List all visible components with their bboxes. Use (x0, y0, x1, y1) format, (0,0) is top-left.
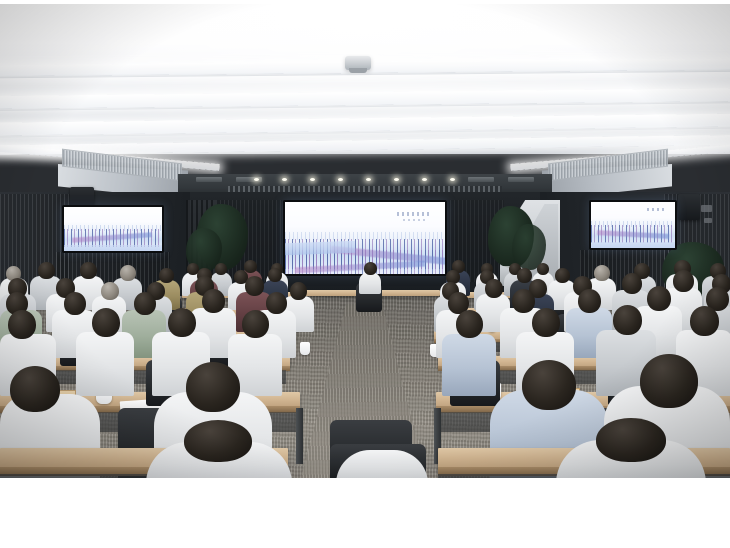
attendee-e2-head (92, 308, 120, 337)
bulkhead-vent-3 (468, 177, 494, 182)
attendee-f1-head (186, 362, 240, 412)
bulkhead-downlight-1 (282, 178, 287, 181)
attendee-d3-head (202, 289, 225, 313)
desk-leg-e-left (296, 408, 303, 464)
attendee-e2-torso (76, 332, 134, 396)
attendee-b8-head (555, 268, 570, 283)
attendee-b1-head (159, 268, 174, 283)
main-screen-river (285, 241, 355, 255)
bulkhead-downlight-2 (310, 178, 315, 181)
main-screen-watermark (397, 212, 431, 216)
screenshot-root: 姓 名 姓 名 (0, 0, 730, 548)
attendee-b0-head (120, 265, 136, 281)
attendee-b9-head (594, 265, 610, 281)
attendee-f3-head (522, 360, 576, 410)
tea-mug-d3 (300, 342, 310, 355)
bulkhead-vent-4 (508, 177, 534, 182)
front-desk-right (378, 290, 440, 296)
ceiling-projector-lens (349, 68, 367, 73)
bulkhead-downlight-4 (366, 178, 371, 181)
attendee-e7-head (613, 305, 642, 335)
attendee-f2-head (10, 366, 60, 412)
attendee-e3-head (168, 308, 196, 337)
attendee-e5-torso (442, 334, 496, 396)
attendee-g2-head (596, 418, 666, 462)
solo-attendee-head (364, 262, 377, 275)
bulkhead-downlight-5 (394, 178, 399, 181)
attendee-d8-head (647, 286, 671, 311)
wall-speaker-right (678, 194, 700, 220)
right-side-screen (591, 202, 675, 248)
attendee-d6-head (512, 289, 535, 313)
attendee-c4-head (245, 276, 264, 296)
right-screen-river (591, 242, 675, 248)
attendee-b4-head (268, 268, 282, 282)
attendee-f4-head (640, 354, 698, 408)
left-side-screen (64, 207, 162, 251)
attendee-a8-head (537, 263, 549, 275)
front-desk-left (298, 290, 360, 296)
bulkhead-downlight-7 (450, 178, 455, 181)
attendee-d2-head (134, 292, 156, 315)
attendee-g1-head (184, 420, 252, 462)
bulkhead-downlight-8 (254, 178, 259, 181)
attendee-d4-head (266, 292, 287, 314)
attendee-e5-head (456, 310, 483, 338)
attendee-bm2-head (38, 262, 55, 279)
main-screen-watermark-2 (403, 219, 427, 221)
solo-attendee-torso (359, 272, 381, 294)
attendee-e8-head (690, 306, 719, 336)
attendee-e1-head (8, 310, 36, 339)
attendee-d1-head (64, 292, 86, 315)
attendee-c5-head (290, 282, 307, 300)
attendee-c1-head (101, 282, 119, 300)
letterbox-bottom (0, 478, 730, 548)
attendee-b7-head (517, 268, 532, 283)
attendee-e4-head (242, 310, 269, 338)
bulkhead-downlight-6 (422, 178, 427, 181)
attendee-e6-head (532, 308, 560, 337)
conference-room-photograph: 姓 名 姓 名 (0, 4, 730, 478)
attendee-c7-head (485, 279, 503, 298)
attendee-d7-head (578, 289, 601, 313)
attendee-a2-head (215, 263, 227, 275)
right-screen-watermark (647, 208, 667, 211)
wall-marker-right-2 (704, 218, 712, 223)
attendee-c10-head (622, 273, 642, 294)
attendee-c11-head (673, 270, 694, 292)
bulkhead-downlight-3 (338, 178, 343, 181)
attendee-bm1-head (80, 262, 97, 279)
wall-marker-right (701, 205, 712, 212)
left-screen-river (64, 245, 162, 251)
bulkhead-vent-1 (196, 177, 222, 182)
